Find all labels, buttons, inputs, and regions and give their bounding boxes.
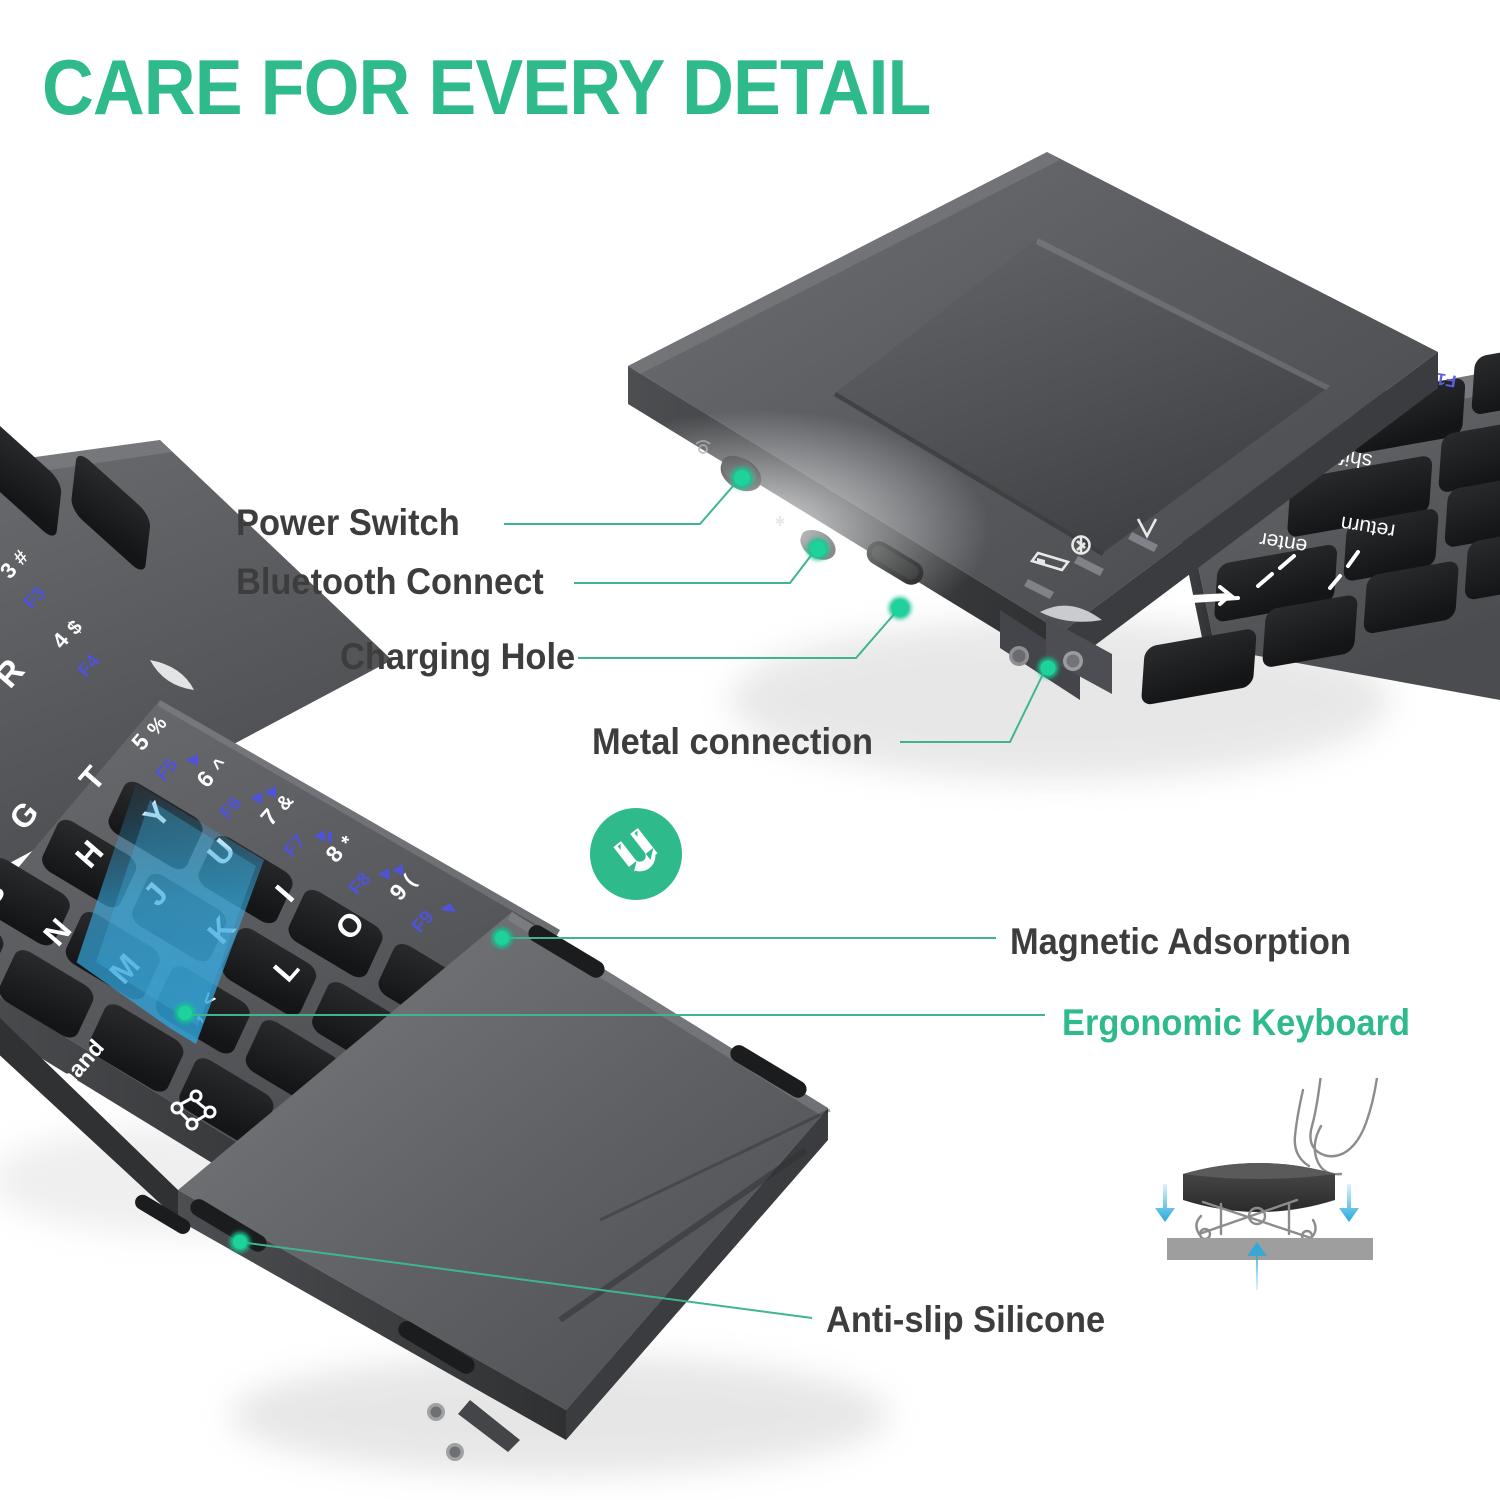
label-magnetic-adsorption: Magnetic Adsorption — [1010, 922, 1351, 962]
magnet-icon — [605, 823, 667, 885]
page-title: CARE FOR EVERY DETAIL — [42, 46, 930, 128]
label-charging-hole: Charging Hole — [340, 637, 575, 677]
finger-press-scissor-switch-illustration — [1125, 1078, 1415, 1290]
infographic-canvas: shift return enter Del F12 F11 — [0, 0, 1500, 1500]
label-metal-connection: Metal connection — [592, 722, 873, 762]
magnet-icon-badge — [590, 808, 682, 900]
label-ergonomic-keyboard: Ergonomic Keyboard — [1062, 1003, 1410, 1043]
label-bluetooth-connect: Bluetooth Connect — [236, 562, 544, 602]
label-power-switch: Power Switch — [236, 503, 460, 543]
top-device-group: shift return enter Del F12 F11 — [530, 152, 1500, 706]
label-anti-slip-silicone: Anti-slip Silicone — [826, 1300, 1105, 1340]
